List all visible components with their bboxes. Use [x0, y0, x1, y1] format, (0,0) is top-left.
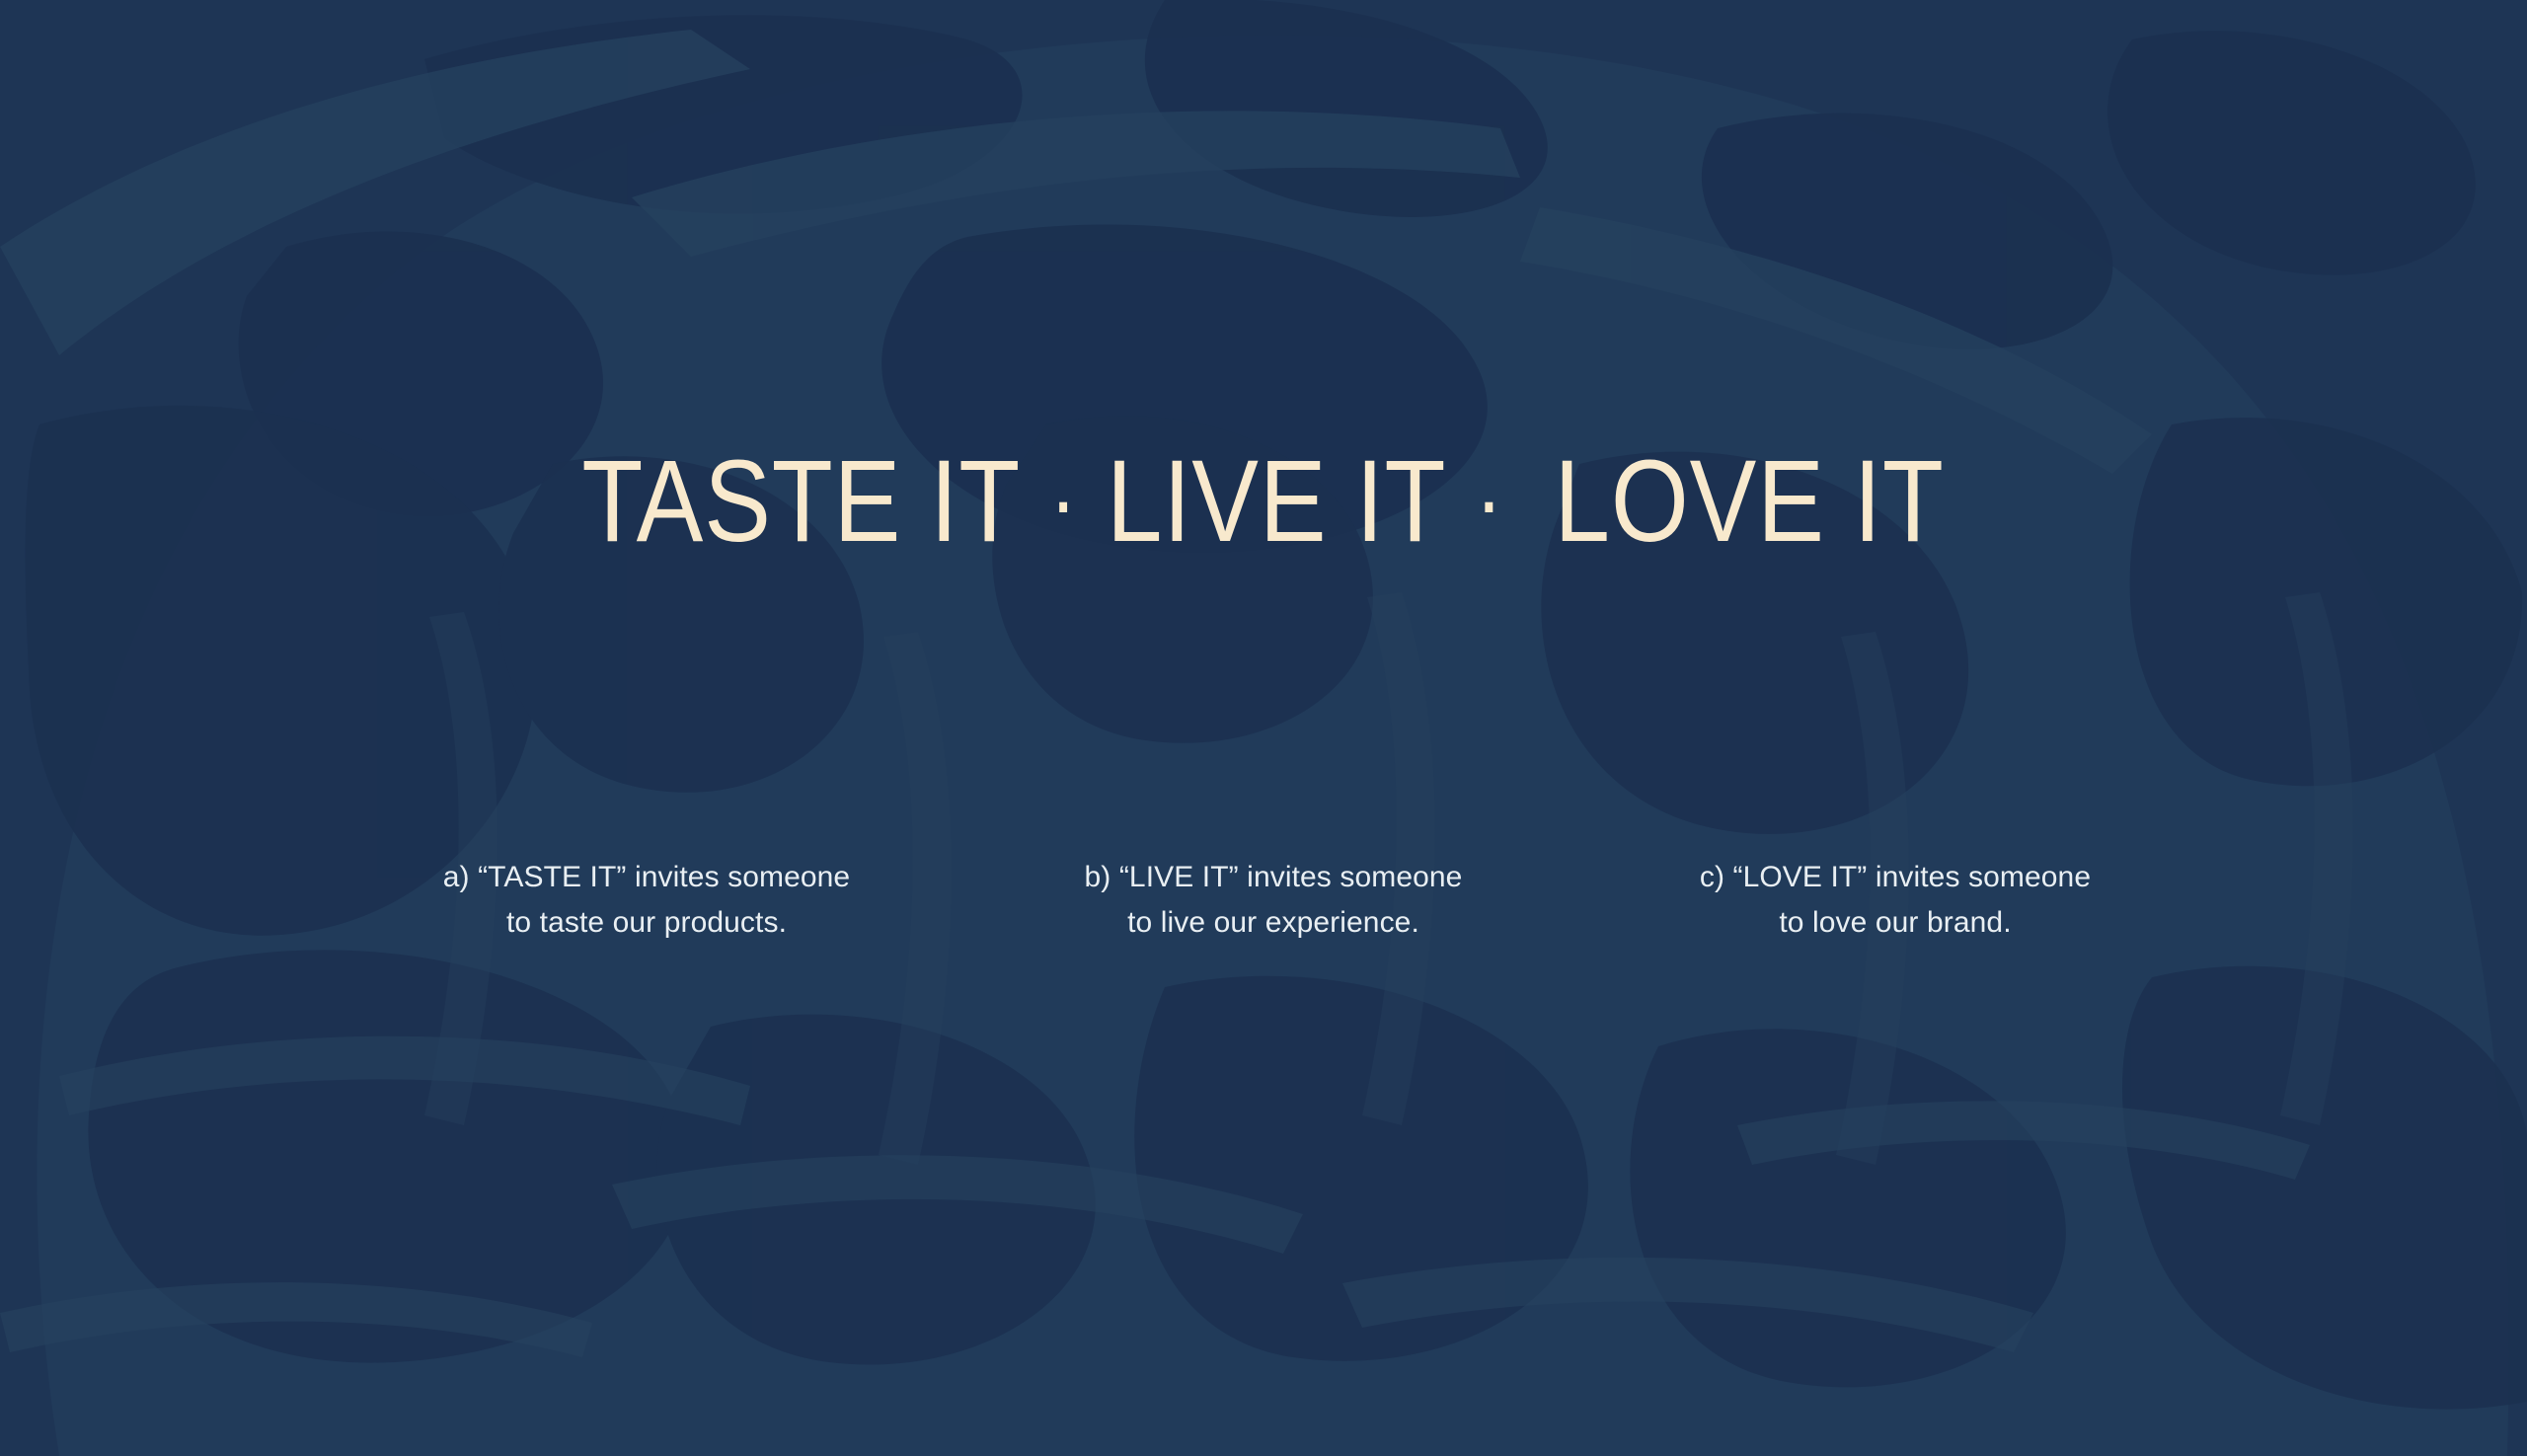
caption-item-a: a) “TASTE IT” invites someone to taste o… [434, 855, 859, 945]
organic-leaf-background-pattern [0, 0, 2527, 1456]
caption-item-b: b) “LIVE IT” invites someone to live our… [1076, 855, 1471, 945]
headline-part-live-it: LIVE IT [1107, 436, 1446, 567]
brand-slide: TASTE IT·LIVE IT·LOVE IT a) “TASTE IT” i… [0, 0, 2527, 1456]
headline-container: TASTE IT·LIVE IT·LOVE IT [0, 441, 2527, 564]
headline-separator-dot-2: · [1447, 452, 1533, 552]
caption-item-c: c) “LOVE IT” invites someone to love our… [1688, 855, 2103, 945]
page-title: TASTE IT·LIVE IT·LOVE IT [582, 441, 1945, 564]
headline-part-taste-it: TASTE IT [582, 436, 1022, 567]
headline-part-love-it: LOVE IT [1555, 436, 1945, 567]
headline-separator-dot-1: · [1022, 452, 1108, 552]
caption-row: a) “TASTE IT” invites someone to taste o… [434, 855, 2103, 945]
